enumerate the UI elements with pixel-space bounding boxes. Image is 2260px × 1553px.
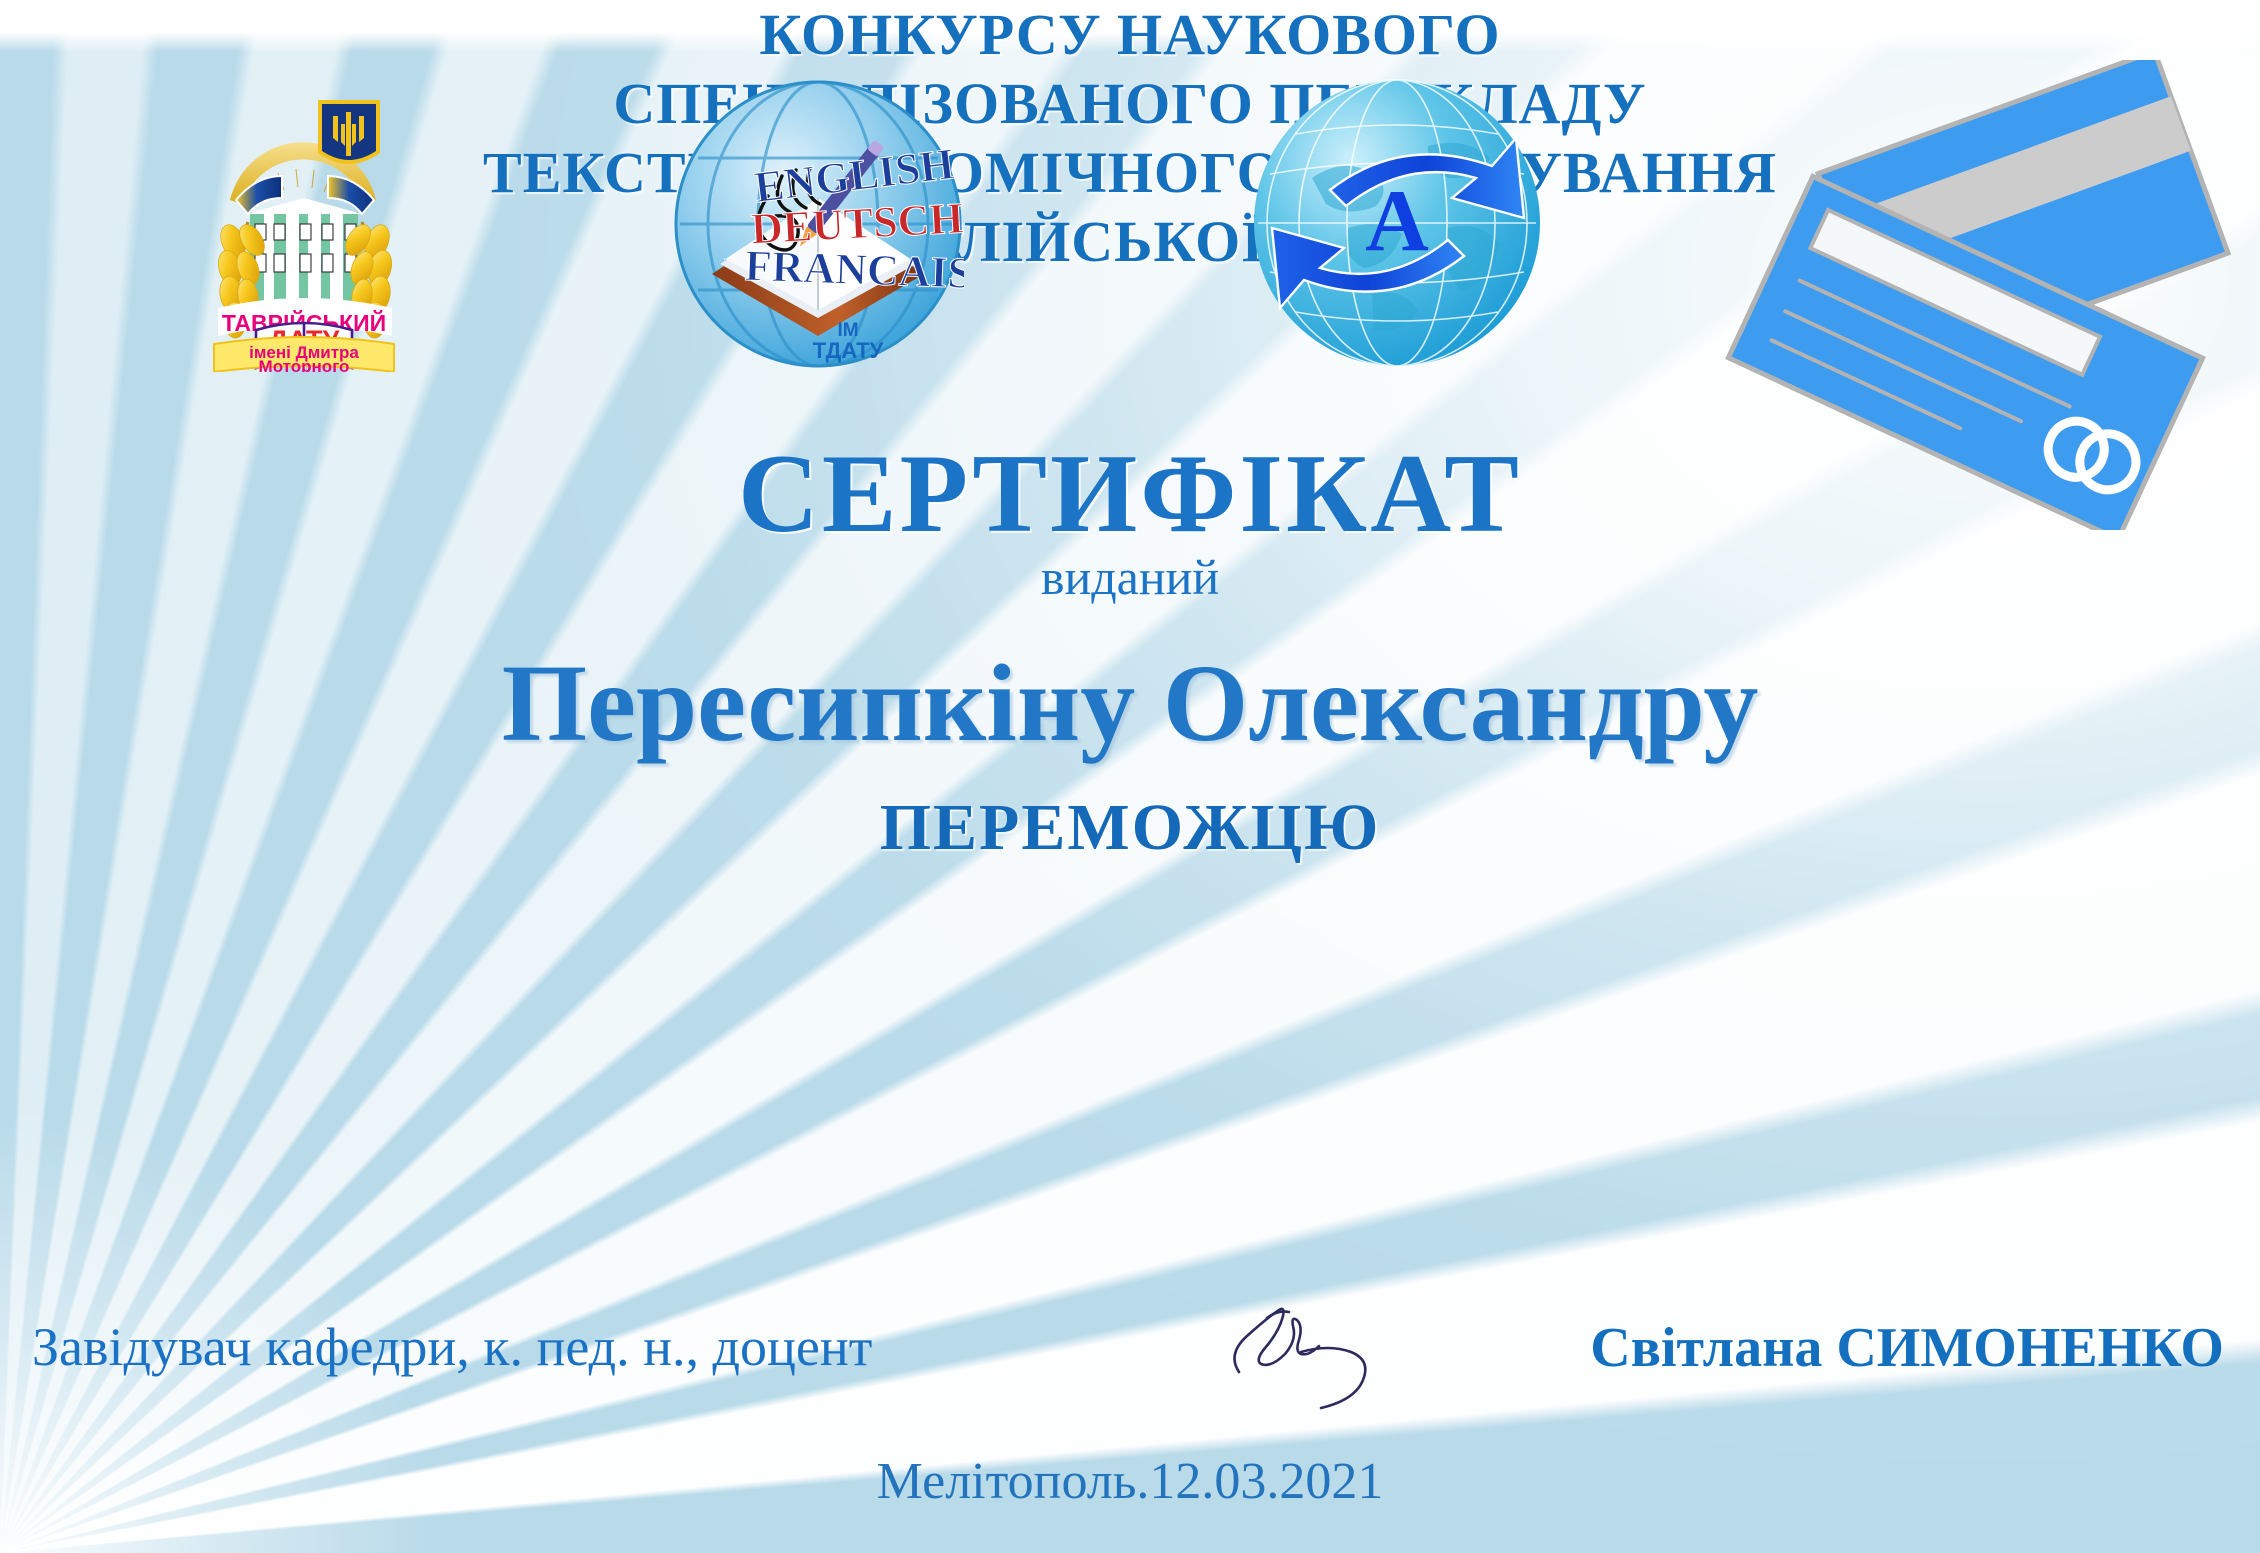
competition-line: КОНКУРСУ НАУКОВОГО (0, 0, 2260, 69)
signer-name: Світлана СИМОНЕНКО (1590, 1316, 2224, 1380)
award-role: ПЕРЕМОЖЦЮ (0, 790, 2260, 866)
certificate-page: ТАВРІЙСЬКИЙ ДАТУ імені Дмитра Моторного (0, 0, 2260, 1553)
globe-translation-emblem: A (1252, 78, 1542, 368)
tdatu-university-emblem: ТАВРІЙСЬКИЙ ДАТУ імені Дмитра Моторного (178, 72, 428, 372)
languages-department-emblem: ENGLISH DEUTSCH FRANCAIS ІМ ТДАТУ (672, 78, 964, 370)
certificate-subtitle: виданий (0, 548, 2260, 606)
languages-footer-line2: ТДАТУ (813, 338, 884, 363)
emblem-banner-line2: Моторного (259, 357, 350, 372)
recipient-name: Пересипкіну Олександру (0, 640, 2260, 767)
place-and-date: Мелітополь.12.03.2021 (0, 1452, 2260, 1511)
certificate-title: СЕРТИФІКАТ (0, 430, 2260, 559)
signature-row: Завідувач кафедри, к. пед. н., доцент Св… (0, 1316, 2260, 1406)
languages-line-3: FRANCAIS (744, 241, 964, 298)
handwritten-signature (1205, 1280, 1395, 1410)
globe-monogram: A (1365, 173, 1429, 270)
signer-title: Завідувач кафедри, к. пед. н., доцент (32, 1316, 872, 1378)
